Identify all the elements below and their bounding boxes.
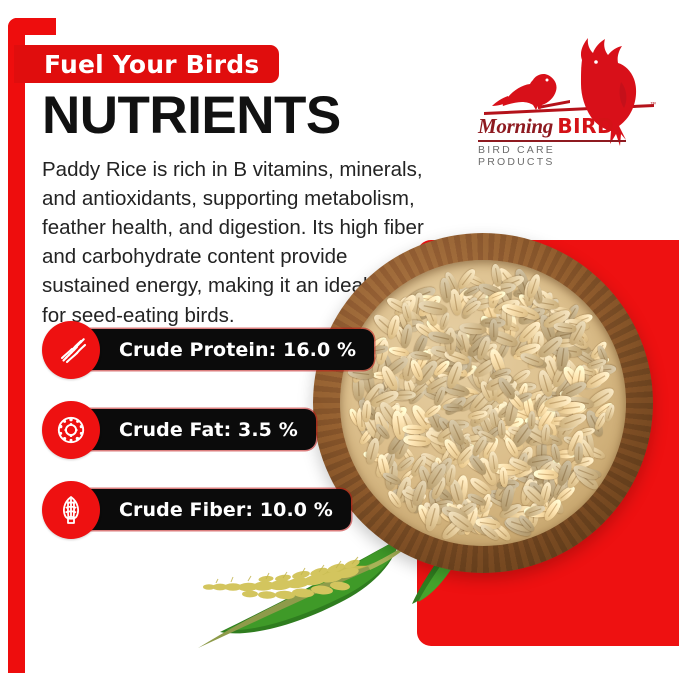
nutrient-pill-protein: Crude Protein: 16.0 %: [71, 329, 374, 370]
logo-name-script: Morning: [478, 114, 553, 138]
nutrient-pill-fiber: Crude Fiber: 10.0 %: [71, 489, 351, 530]
nutrient-list: Crude Protein: 16.0 %: [42, 321, 362, 561]
wooden-bowl: [313, 233, 653, 573]
fat-globule-icon: [42, 401, 100, 459]
rice-grain: [402, 424, 426, 434]
banner-label: Fuel Your Birds: [44, 52, 259, 77]
paddy-rice-bowl-image: [313, 233, 653, 573]
logo-name-bold: BIRD: [557, 114, 614, 138]
frame-accent-left: [8, 18, 25, 673]
fuel-your-birds-banner: Fuel Your Birds: [14, 45, 279, 83]
rice-grain: [489, 319, 498, 341]
svg-text:™: ™: [650, 101, 656, 108]
nutrient-pill-fat: Crude Fat: 3.5 %: [71, 409, 316, 450]
protein-helix-icon: [42, 321, 100, 379]
logo-tagline: BIRD CARE PRODUCTS: [478, 144, 628, 168]
nutrient-label-fiber: Crude Fiber: 10.0 %: [119, 499, 333, 521]
infographic-canvas: Fuel Your Birds NUTRIENTS Paddy Rice is …: [0, 0, 679, 679]
logo-divider: [478, 140, 626, 142]
nutrient-label-fat: Crude Fat: 3.5 %: [119, 419, 298, 441]
fiber-artichoke-icon: [42, 481, 100, 539]
nutrient-label-protein: Crude Protein: 16.0 %: [119, 339, 356, 361]
logo-wordmark: Morning BIRD BIRD CARE PRODUCTS: [478, 114, 628, 168]
page-title: NUTRIENTS: [42, 88, 341, 144]
rice-grains-fill: [340, 260, 626, 546]
brand-logo: ™ Morning BIRD BIRD CARE PRODUCTS: [478, 34, 658, 169]
